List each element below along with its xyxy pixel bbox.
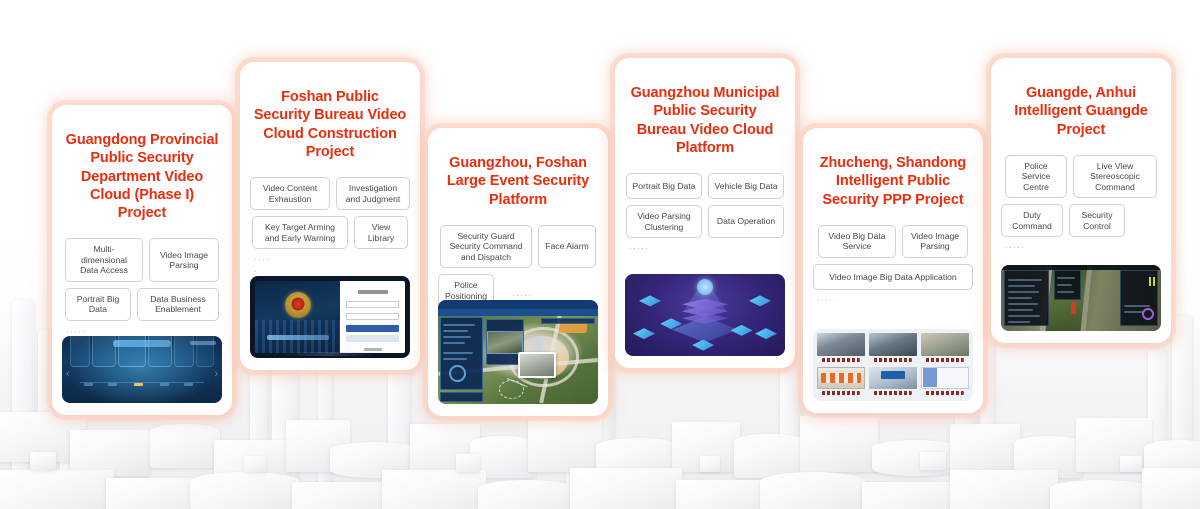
aerial-gis-command-platform-screenshot <box>438 300 598 404</box>
tag-item[interactable]: Data Operation <box>708 205 784 238</box>
card-tag-list: Video Content Exhaustion Investigation a… <box>250 177 410 249</box>
project-card-foshan-public-security[interactable]: Foshan Public Security Bureau Video Clou… <box>240 62 420 370</box>
tag-item[interactable]: Video Image Big Data Application <box>813 264 973 290</box>
tag-item[interactable]: Video Content Exhaustion <box>250 177 330 210</box>
project-card-guangzhou-municipal[interactable]: Guangzhou Municipal Public Security Bure… <box>615 58 795 368</box>
dark-aerial-gis-dashboard-screenshot <box>1001 265 1161 331</box>
project-card-guangde-anhui[interactable]: Guangde, Anhui Intelligent Guangde Proje… <box>991 58 1171 343</box>
project-card-guangdong-provincial[interactable]: Guangdong Provincial Public Security Dep… <box>52 105 232 415</box>
card-title: Guangzhou, Foshan Large Event Security P… <box>440 154 596 209</box>
tag-item[interactable]: Key Target Arming and Early Warning <box>252 216 348 249</box>
tag-item[interactable]: Police Service Centre <box>1005 155 1067 198</box>
project-card-zhucheng-shandong[interactable]: Zhucheng, Shandong Intelligent Public Se… <box>803 128 983 413</box>
card-tag-list: Multi-dimensional Data Access Video Imag… <box>62 238 222 320</box>
more-items-ellipsis: ····· <box>817 296 837 305</box>
more-items-ellipsis: ···· <box>254 255 270 264</box>
card-title: Guangzhou Municipal Public Security Bure… <box>627 84 783 157</box>
blue-mobile-app-carousel-screenshot: ‹ › <box>62 336 222 403</box>
card-tag-list: Video Big Data Service Video Image Parsi… <box>813 225 973 290</box>
tag-item[interactable]: Portrait Big Data <box>65 288 131 321</box>
traffic-monitoring-photo-grid-screenshot <box>813 329 973 401</box>
isometric-cloud-architecture-illustration <box>625 274 785 356</box>
tag-item[interactable]: Vehicle Big Data <box>708 173 784 199</box>
more-items-ellipsis-secondary: · <box>254 267 258 276</box>
more-items-ellipsis: ····· <box>66 327 86 336</box>
more-items-ellipsis: ····· <box>1005 243 1025 252</box>
tag-item[interactable]: Portrait Big Data <box>626 173 702 199</box>
tag-item[interactable]: Investigation and Judgment <box>336 177 410 210</box>
tag-item[interactable]: Video Parsing Clustering <box>626 205 702 238</box>
tag-item[interactable]: Video Image Parsing <box>902 225 968 258</box>
more-items-ellipsis: ····· <box>629 244 649 253</box>
tag-item[interactable]: Multi-dimensional Data Access <box>65 238 143 281</box>
police-login-page-screenshot <box>250 276 410 358</box>
tag-item[interactable]: Data Business Enablement <box>137 288 219 321</box>
tag-item[interactable]: Live View Stereoscopic Command <box>1073 155 1157 198</box>
tag-item[interactable]: Video Big Data Service <box>818 225 896 258</box>
card-title: Guangde, Anhui Intelligent Guangde Proje… <box>1003 84 1159 139</box>
card-tag-list: Police Service Centre Live View Stereosc… <box>1001 155 1161 237</box>
tag-item[interactable]: Security Guard Security Command and Disp… <box>440 225 532 268</box>
card-title: Guangdong Provincial Public Security Dep… <box>64 131 220 222</box>
tag-item[interactable]: Duty Command <box>1001 204 1063 237</box>
tag-item[interactable]: Video Image Parsing <box>149 238 219 281</box>
more-items-ellipsis: ····· <box>512 291 532 300</box>
tag-item[interactable]: Security Control <box>1069 204 1125 237</box>
card-title: Zhucheng, Shandong Intelligent Public Se… <box>815 154 971 209</box>
project-card-guangzhou-foshan-large-event[interactable]: Guangzhou, Foshan Large Event Security P… <box>428 128 608 416</box>
tag-item[interactable]: View Library <box>354 216 408 249</box>
tag-item[interactable]: Face Alarm <box>538 225 596 268</box>
card-tag-list: Portrait Big Data Vehicle Big Data Video… <box>625 173 785 238</box>
card-title: Foshan Public Security Bureau Video Clou… <box>252 88 408 161</box>
